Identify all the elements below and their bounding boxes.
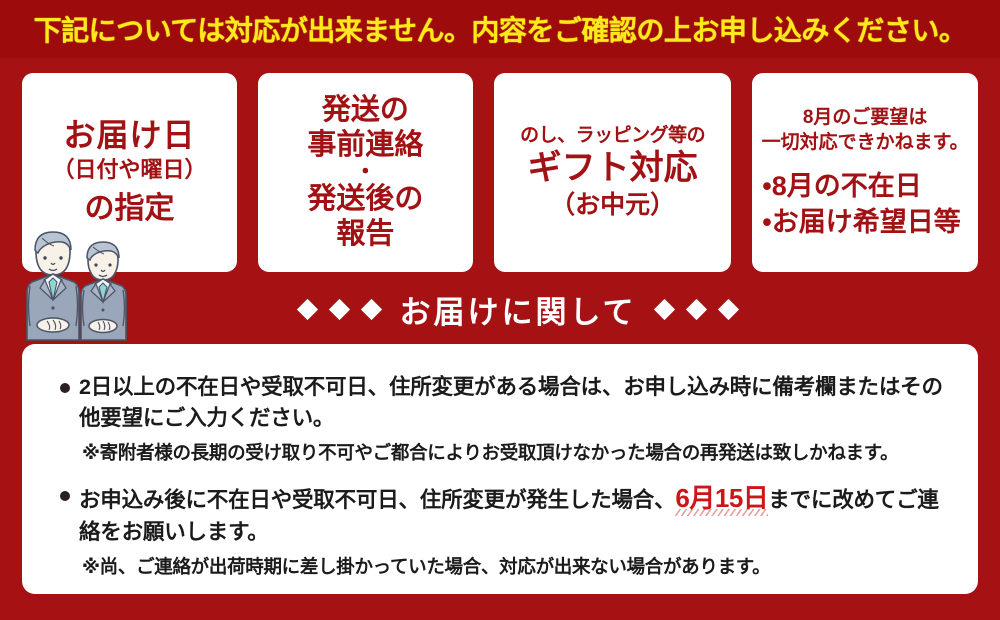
diamond-icon xyxy=(717,298,738,319)
card-shipping-notice-line2: 事前連絡 xyxy=(307,128,423,163)
two-bowing-businessmen-illustration xyxy=(20,222,152,346)
card-delivery-date-line1: お届け日 xyxy=(63,118,195,153)
card-august-requests: 8月のご要望は 一切対応できかねます。 •8月の不在日 •お届け希望日等 xyxy=(752,73,978,272)
card-gift-wrapping-line1: のし、ラッピング等の xyxy=(520,125,705,148)
card-shipping-notice-separator: ・ xyxy=(354,163,376,182)
delivery-notes-panel: 2日以上の不在日や受取不可日、住所変更がある場合は、お申し込み時に備考欄またはそ… xyxy=(22,344,978,594)
deadline-date-highlight: 6月15日 xyxy=(675,483,768,516)
businessman-left xyxy=(27,232,79,340)
note-bullet-text-pre: お申込み後に不在日や受取不可日、住所変更が発生した場合、 xyxy=(79,488,675,512)
card-gift-wrapping-line2: ギフト対応 xyxy=(528,149,698,188)
card-shipping-notice: 発送の 事前連絡 ・ 発送後の 報告 xyxy=(258,73,473,272)
note-bullet-row: お申込み後に不在日や受取不可日、住所変更が発生した場合、6月15日までに改めてご… xyxy=(48,480,952,547)
notice-graphic: 下記については対応が出来ません。内容をご確認の上お申し込みください。 お届け日 … xyxy=(0,0,1000,620)
diamond-icon xyxy=(361,298,382,319)
card-shipping-notice-line3: 発送後の xyxy=(307,182,423,217)
note-item: お申込み後に不在日や受取不可日、住所変更が発生した場合、6月15日までに改めてご… xyxy=(48,480,952,580)
note-bullet-row: 2日以上の不在日や受取不可日、住所変更がある場合は、お申し込み時に備考欄またはそ… xyxy=(48,372,952,433)
note-bullet-text: お申込み後に不在日や受取不可日、住所変更が発生した場合、6月15日までに改めてご… xyxy=(79,480,952,547)
note-item: 2日以上の不在日や受取不可日、住所変更がある場合は、お申し込み時に備考欄またはそ… xyxy=(48,372,952,466)
businessman-right xyxy=(81,242,126,340)
card-august-requests-bullet2: •お届け希望日等 xyxy=(752,205,978,240)
note-subtext: ※寄附者様の長期の受け取り不可やご都合によりお受取頂けなかった場合の再発送は致し… xyxy=(82,440,952,466)
card-august-requests-line1: 8月のご要望は xyxy=(803,105,928,130)
diamond-icon xyxy=(329,298,350,319)
bullet-dot-icon xyxy=(60,383,70,393)
card-august-requests-line2: 一切対応できかねます。 xyxy=(762,130,969,155)
header-bar: 下記については対応が出来ません。内容をご確認の上お申し込みください。 xyxy=(0,0,1000,58)
bullet-dot-icon xyxy=(60,491,70,501)
diamond-icon xyxy=(653,298,674,319)
card-shipping-notice-line4: 報告 xyxy=(336,217,394,252)
card-gift-wrapping-line3: （お中元） xyxy=(550,190,675,220)
card-shipping-notice-line1: 発送の xyxy=(322,93,409,128)
card-gift-wrapping: のし、ラッピング等の ギフト対応 （お中元） xyxy=(494,73,731,272)
banner-title: お届けに関して xyxy=(399,287,636,332)
card-delivery-date-line2: （日付や曜日） xyxy=(52,155,206,185)
note-bullet-text: 2日以上の不在日や受取不可日、住所変更がある場合は、お申し込み時に備考欄またはそ… xyxy=(79,372,952,433)
diamond-group-left xyxy=(300,302,379,317)
card-august-requests-bullet1: •8月の不在日 xyxy=(752,169,978,204)
diamond-group-right xyxy=(657,302,736,317)
page-title: 下記については対応が出来ません。内容をご確認の上お申し込みください。 xyxy=(34,9,967,49)
restriction-card-list: お届け日 （日付や曜日） の指定 発送の 事前連絡 ・ 発送後の 報告 のし、ラ… xyxy=(22,73,978,272)
note-subtext: ※尚、ご連絡が出荷時期に差し掛かっていた場合、対応が出来ない場合があります。 xyxy=(82,554,952,580)
diamond-icon xyxy=(297,298,318,319)
diamond-icon xyxy=(685,298,706,319)
card-august-requests-bullets: •8月の不在日 •お届け希望日等 xyxy=(752,169,978,239)
